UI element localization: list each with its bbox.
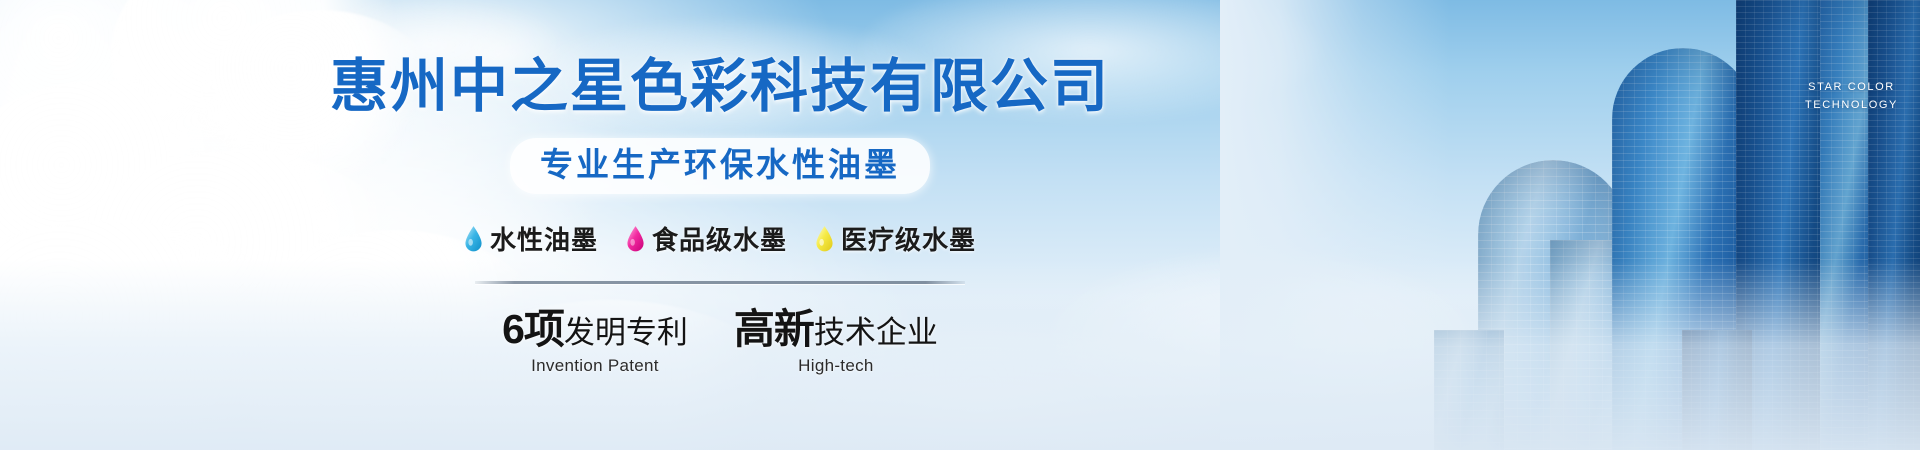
- ink-type-item: 食品级水墨: [626, 220, 787, 257]
- credential-list: 6项发明专利 Invention Patent 高新技术企业 High-tech: [0, 308, 1680, 376]
- banner-content: 惠州中之星色彩科技有限公司 专业生产环保水性油墨 水性油墨: [0, 0, 1920, 376]
- water-drop-icon: [815, 225, 834, 252]
- section-divider: [475, 281, 965, 284]
- credential-item: 高新技术企业 High-tech: [734, 308, 938, 376]
- water-drop-icon: [626, 225, 645, 252]
- company-headline: 惠州中之星色彩科技有限公司: [0, 58, 1680, 116]
- ink-type-label: 食品级水墨: [652, 220, 787, 257]
- ink-type-label: 医疗级水墨: [841, 220, 976, 257]
- water-drop-icon: [464, 225, 483, 252]
- credential-cn: 高新技术企业: [734, 308, 938, 351]
- ink-type-item: 水性油墨: [464, 220, 598, 257]
- credential-en: Invention Patent: [502, 356, 688, 376]
- credential-cn-strong: 高新: [734, 306, 814, 352]
- credential-cn-light: 发明专利: [564, 315, 688, 350]
- credential-cn: 6项发明专利: [502, 308, 688, 351]
- tagline-badge-row: 专业生产环保水性油墨: [0, 138, 1680, 194]
- credential-cn-strong: 6项: [502, 306, 564, 352]
- tagline-badge: 专业生产环保水性油墨: [510, 138, 930, 194]
- credential-cn-light: 技术企业: [814, 315, 938, 350]
- ink-type-label: 水性油墨: [490, 220, 598, 257]
- credential-en: High-tech: [734, 356, 938, 376]
- ink-type-list: 水性油墨 食品级水墨: [0, 220, 1680, 257]
- promotional-banner: Star Color STAR COLOR TECHNOLOGY 惠州中之星色彩…: [0, 0, 1920, 450]
- credential-item: 6项发明专利 Invention Patent: [502, 308, 688, 376]
- ink-type-item: 医疗级水墨: [815, 220, 976, 257]
